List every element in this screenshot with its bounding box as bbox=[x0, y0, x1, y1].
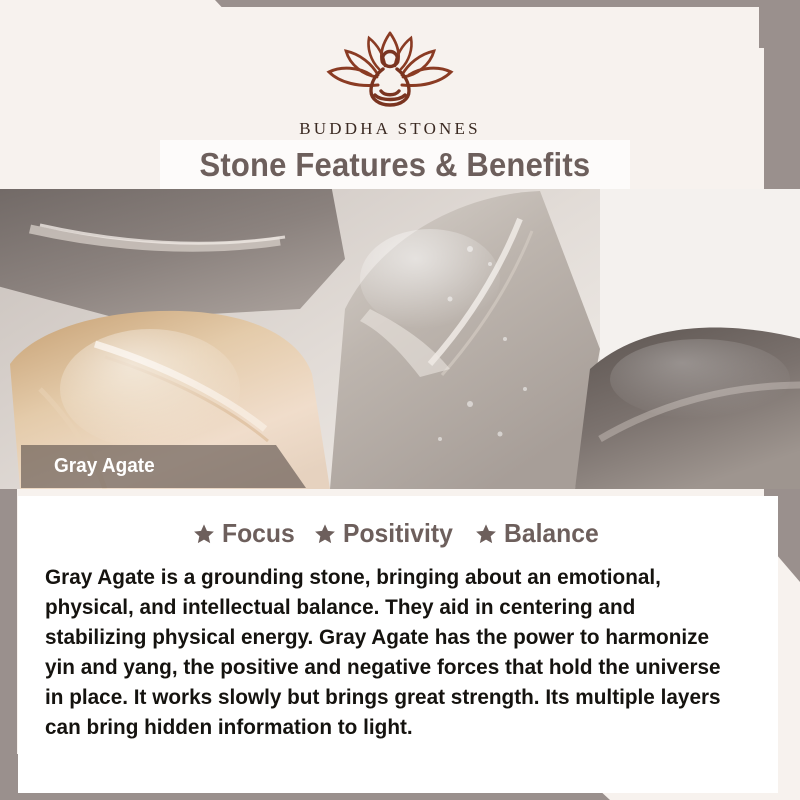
brand-name: BUDDHA STONES bbox=[299, 119, 481, 139]
benefits-row: Focus Positivity Balance bbox=[18, 496, 778, 549]
stone-name-label: Gray Agate bbox=[54, 455, 155, 478]
star-icon bbox=[475, 523, 497, 545]
stone-photo bbox=[0, 189, 800, 489]
stone-name-banner: Gray Agate bbox=[21, 445, 306, 488]
poster-root: BUDDHA STONES Stone Features & Benefits bbox=[0, 0, 800, 800]
stone-description: Gray Agate is a grounding stone, bringin… bbox=[45, 562, 726, 742]
stone-photo-image bbox=[0, 189, 800, 489]
brand-logo: BUDDHA STONES bbox=[21, 25, 759, 139]
page-title: Stone Features & Benefits bbox=[200, 146, 591, 184]
benefit-label: Positivity bbox=[343, 518, 453, 549]
star-icon bbox=[193, 523, 215, 545]
benefit-label: Balance bbox=[504, 518, 599, 549]
lotus-meditation-figure-icon bbox=[315, 25, 465, 117]
description-panel: Focus Positivity Balance Gray Agate is a… bbox=[18, 496, 778, 793]
benefit-label: Focus bbox=[222, 518, 295, 549]
benefit-item-focus: Focus bbox=[193, 518, 299, 549]
content-card: BUDDHA STONES Stone Features & Benefits bbox=[21, 7, 759, 748]
benefit-item-positivity: Positivity bbox=[314, 518, 459, 549]
star-icon bbox=[314, 523, 336, 545]
benefit-item-balance: Balance bbox=[475, 518, 604, 549]
title-band: Stone Features & Benefits bbox=[160, 140, 630, 190]
